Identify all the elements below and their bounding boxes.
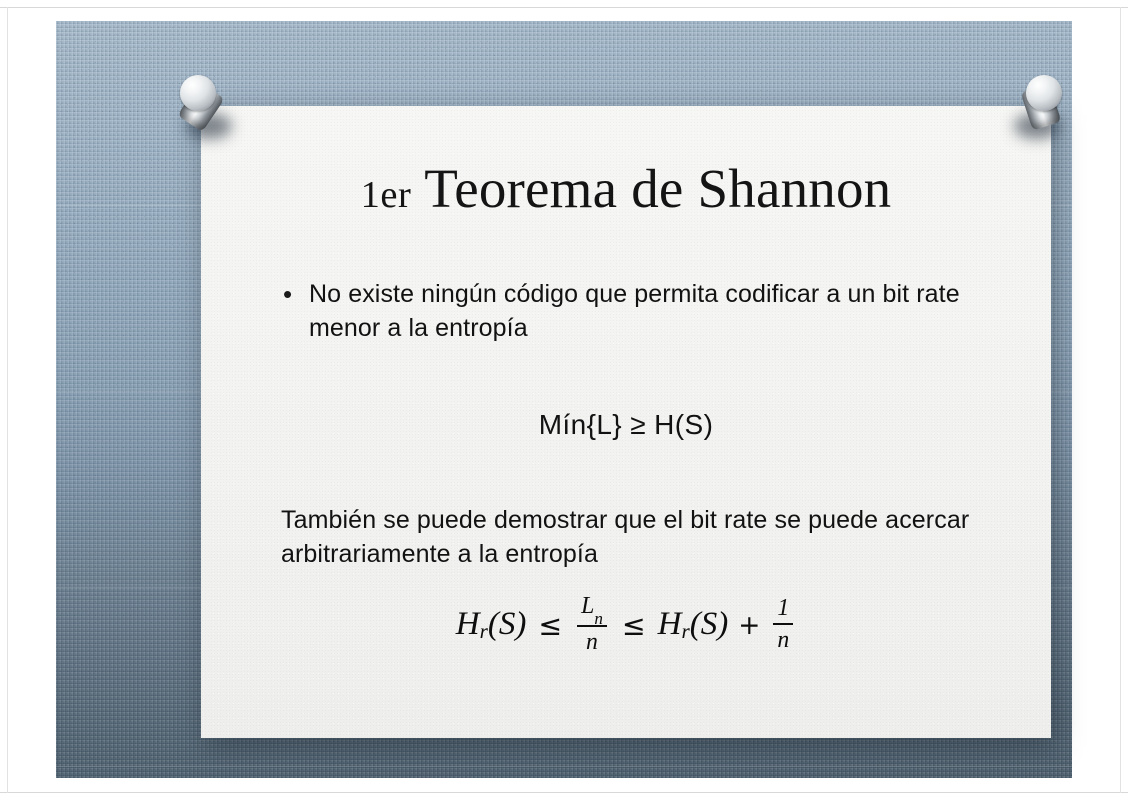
lhs-subscript: r xyxy=(480,619,488,644)
title-main: Teorema de Shannon xyxy=(424,158,891,219)
pushpin-head xyxy=(180,75,216,111)
corkboard-background: 1er Teorema de Shannon • No existe ningú… xyxy=(56,21,1072,778)
rhs-subscript: r xyxy=(682,619,690,644)
equation-rhs: Hr(S) xyxy=(658,606,729,643)
equation-shannon-bounds: Hr(S) ≤ Ln n ≤ Hr(S) + 1 n xyxy=(201,593,1051,656)
relation-leq-1: ≤ xyxy=(538,609,562,642)
page-right-edge xyxy=(1120,7,1121,793)
slide-content: 1er Teorema de Shannon • No existe ningú… xyxy=(201,106,1051,738)
fraction-numerator: 1 xyxy=(773,595,793,622)
lhs-argument: (S) xyxy=(488,606,526,643)
relation-leq-2: ≤ xyxy=(622,609,646,642)
rhs-function: H xyxy=(658,606,682,643)
slide-canvas: 1er Teorema de Shannon • No existe ningú… xyxy=(0,0,1128,800)
page-title: 1er Teorema de Shannon xyxy=(201,160,1051,218)
bullet-text: No existe ningún código que permita codi… xyxy=(309,277,981,345)
page-left-edge xyxy=(7,7,8,793)
fraction-denominator: n xyxy=(773,627,793,654)
title-ordinal: 1er xyxy=(361,174,412,216)
pushpin-icon-left xyxy=(172,69,246,149)
equation-min-l: Mín{L} ≥ H(S) xyxy=(201,409,1051,441)
numerator-symbol: L xyxy=(581,593,594,619)
bullet-marker-icon: • xyxy=(281,277,309,311)
pushpin-icon-right xyxy=(1004,69,1078,149)
fraction-numerator: Ln xyxy=(577,593,607,623)
page-bottom-rule xyxy=(0,792,1128,793)
operator-plus: + xyxy=(738,610,760,641)
rhs-argument: (S) xyxy=(690,606,728,643)
fraction-bar xyxy=(773,623,793,625)
fraction-one-over-n: 1 n xyxy=(773,595,793,654)
paper-sheet: 1er Teorema de Shannon • No existe ningú… xyxy=(201,106,1051,738)
numerator-subscript: n xyxy=(594,609,603,628)
equation-lhs: Hr(S) xyxy=(456,606,527,643)
lhs-function: H xyxy=(456,606,480,643)
pushpin-head xyxy=(1026,75,1062,111)
fraction-ln-over-n: Ln n xyxy=(577,593,607,656)
bullet-list: • No existe ningún código que permita co… xyxy=(281,277,981,345)
board-seam xyxy=(56,766,1072,767)
page-top-rule xyxy=(0,7,1128,8)
body-paragraph: También se puede demostrar que el bit ra… xyxy=(281,503,981,571)
list-item: • No existe ningún código que permita co… xyxy=(281,277,981,345)
fraction-denominator: n xyxy=(582,629,602,656)
